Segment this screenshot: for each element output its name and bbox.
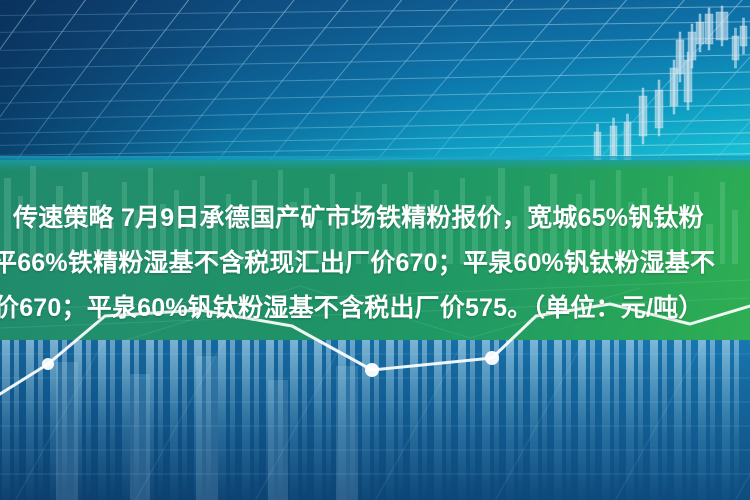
news-banner: 传速策略 7月9日承德国产矿市场铁精粉报价，宽城65%钒钛粉 平66%铁精粉湿基… [0, 0, 750, 500]
headline-line-3: 价670；平泉60%钒钛粉湿基不含税出厂价575。（单位：元/吨） [0, 286, 750, 331]
headline-line-1: 传速策略 7月9日承德国产矿市场铁精粉报价，宽城65%钒钛粉 [0, 196, 750, 241]
headline-line-2: 平66%铁精粉湿基不含税现汇出厂价670；平泉60%钒钛粉湿基不 [0, 241, 750, 286]
headline-text-block: 传速策略 7月9日承德国产矿市场铁精粉报价，宽城65%钒钛粉 平66%铁精粉湿基… [0, 196, 750, 331]
candlestick-chart-graphic [560, 4, 750, 169]
